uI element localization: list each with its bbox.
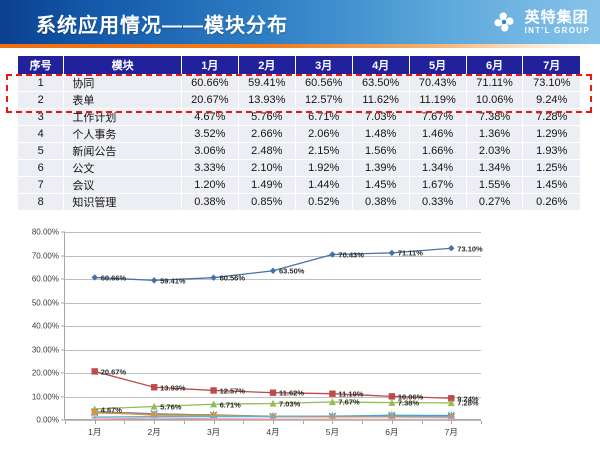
cell-month-value: 0.38% (352, 194, 409, 211)
cell-month-value: 1.67% (409, 177, 466, 194)
cell-month-value: 1.45% (352, 177, 409, 194)
table-row: 2表单20.67%13.93%12.57%11.62%11.19%10.06%9… (18, 92, 580, 109)
chart-x-minor-tick (303, 421, 304, 424)
cell-month-value: 7.28% (523, 109, 580, 126)
cell-month-value: 0.33% (409, 194, 466, 211)
table-column-header: 模块 (64, 56, 182, 75)
cell-month-value: 70.43% (409, 75, 466, 92)
table-head: 序号模块1月2月3月4月5月6月7月 (18, 56, 580, 75)
table-column-header: 7月 (523, 56, 580, 75)
chart-point-label: 59.41% (160, 276, 185, 285)
cell-month-value: 3.33% (181, 160, 238, 177)
module-distribution-table: 序号模块1月2月3月4月5月6月7月 1协同60.66%59.41%60.56%… (18, 56, 580, 211)
cell-module-name: 知识管理 (64, 194, 182, 211)
cell-month-value: 1.55% (466, 177, 523, 194)
cell-month-value: 11.62% (352, 92, 409, 109)
chart-y-tick-label: 70.00% (32, 251, 59, 260)
cell-month-value: 3.52% (181, 126, 238, 143)
chart-y-tick-label: 50.00% (32, 298, 59, 307)
chart-data-point (92, 274, 98, 280)
table-column-header: 2月 (238, 56, 295, 75)
table-column-header: 6月 (466, 56, 523, 75)
cell-module-name: 公文 (64, 160, 182, 177)
cell-index: 4 (18, 126, 64, 143)
cell-month-value: 1.34% (466, 160, 523, 177)
table-row: 4个人事务3.52%2.66%2.06%1.48%1.46%1.36%1.29% (18, 126, 580, 143)
cell-index: 3 (18, 109, 64, 126)
cell-month-value: 2.15% (295, 143, 352, 160)
chart-plot-area: 0.00%10.00%20.00%30.00%40.00%50.00%60.00… (64, 232, 480, 420)
cell-index: 6 (18, 160, 64, 177)
cell-index: 8 (18, 194, 64, 211)
cell-month-value: 1.39% (352, 160, 409, 177)
chart-y-tick-label: 80.00% (32, 228, 59, 237)
chart-data-point (210, 387, 216, 393)
cell-month-value: 0.27% (466, 194, 523, 211)
table-row: 3工作计划4.67%5.76%6.71%7.03%7.67%7.38%7.28% (18, 109, 580, 126)
chart-point-label: 60.66% (101, 273, 126, 282)
chart-y-tick-label: 40.00% (32, 322, 59, 331)
chart-y-tick-label: 0.00% (36, 416, 59, 425)
cell-index: 2 (18, 92, 64, 109)
cell-month-value: 1.20% (181, 177, 238, 194)
cell-month-value: 12.57% (295, 92, 352, 109)
chart-x-minor-tick (124, 421, 125, 424)
cell-month-value: 1.49% (238, 177, 295, 194)
cell-module-name: 表单 (64, 92, 182, 109)
cell-module-name: 会议 (64, 177, 182, 194)
cell-month-value: 0.38% (181, 194, 238, 211)
chart-x-tick-mark (392, 420, 393, 424)
slide-header: 系统应用情况——模块分布 英特集团 INT'L GROUP (0, 0, 600, 44)
chart-point-label: 7.67% (338, 398, 359, 407)
cell-month-value: 0.26% (523, 194, 580, 211)
chart-x-tick-mark (451, 420, 452, 424)
module-trend-chart: 0.00%10.00%20.00%30.00%40.00%50.00%60.00… (0, 220, 600, 453)
cell-month-value: 9.24% (523, 92, 580, 109)
logo-name-cn: 英特集团 (525, 10, 590, 25)
cell-month-value: 2.48% (238, 143, 295, 160)
cell-month-value: 2.06% (295, 126, 352, 143)
chart-x-tick-label: 2月 (148, 426, 161, 438)
module-distribution-table-wrap: 序号模块1月2月3月4月5月6月7月 1协同60.66%59.41%60.56%… (18, 56, 580, 211)
cell-month-value: 1.92% (295, 160, 352, 177)
cell-index: 1 (18, 75, 64, 92)
chart-point-label: 5.76% (160, 402, 181, 411)
chart-x-minor-tick (422, 421, 423, 424)
chart-point-label: 11.62% (279, 389, 304, 398)
cell-month-value: 7.03% (352, 109, 409, 126)
chart-y-tick-label: 10.00% (32, 392, 59, 401)
chart-point-label: 4.67% (101, 405, 122, 414)
table-header-row: 序号模块1月2月3月4月5月6月7月 (18, 56, 580, 75)
chart-data-point (448, 245, 454, 251)
cell-month-value: 3.06% (181, 143, 238, 160)
chart-point-label: 12.57% (220, 386, 245, 395)
chart-data-point (151, 384, 157, 390)
chart-x-minor-tick (362, 421, 363, 424)
page-title: 系统应用情况——模块分布 (36, 9, 288, 38)
chart-x-tick-label: 6月 (385, 426, 398, 438)
cell-month-value: 1.29% (523, 126, 580, 143)
cell-month-value: 0.85% (238, 194, 295, 211)
cell-month-value: 7.38% (466, 109, 523, 126)
cell-month-value: 6.71% (295, 109, 352, 126)
cell-month-value: 4.67% (181, 109, 238, 126)
chart-data-point (270, 389, 276, 395)
chart-x-tick-label: 3月 (207, 426, 220, 438)
table-column-header: 3月 (295, 56, 352, 75)
chart-x-tick-label: 7月 (445, 426, 458, 438)
cell-month-value: 59.41% (238, 75, 295, 92)
cell-month-value: 1.56% (352, 143, 409, 160)
chart-y-tick-label: 60.00% (32, 275, 59, 284)
table-column-header: 序号 (18, 56, 64, 75)
table-row: 1协同60.66%59.41%60.56%63.50%70.43%71.11%7… (18, 75, 580, 92)
cell-index: 7 (18, 177, 64, 194)
slide-canvas: 系统应用情况——模块分布 英特集团 INT'L GROUP 序号模块1月2月3月… (0, 0, 600, 453)
cell-month-value: 20.67% (181, 92, 238, 109)
chart-data-point (329, 391, 335, 397)
cell-month-value: 71.11% (466, 75, 523, 92)
table-body: 1协同60.66%59.41%60.56%63.50%70.43%71.11%7… (18, 75, 580, 211)
table-column-header: 5月 (409, 56, 466, 75)
cell-month-value: 1.44% (295, 177, 352, 194)
table-column-header: 4月 (352, 56, 409, 75)
chart-data-point (151, 277, 157, 283)
cell-month-value: 60.56% (295, 75, 352, 92)
chart-x-tick-mark (154, 420, 155, 424)
chart-point-label: 71.11% (398, 249, 423, 258)
chart-point-label: 63.50% (279, 267, 304, 276)
cell-month-value: 1.45% (523, 177, 580, 194)
table-row: 5新闻公告3.06%2.48%2.15%1.56%1.66%2.03%1.93% (18, 143, 580, 160)
cell-month-value: 63.50% (352, 75, 409, 92)
cell-month-value: 0.52% (295, 194, 352, 211)
cell-month-value: 1.93% (523, 143, 580, 160)
chart-data-point (92, 368, 98, 374)
chart-point-label: 13.93% (160, 383, 185, 392)
table-row: 7会议1.20%1.49%1.44%1.45%1.67%1.55%1.45% (18, 177, 580, 194)
cell-month-value: 73.10% (523, 75, 580, 92)
chart-point-label: 73.10% (457, 244, 482, 253)
cell-month-value: 1.25% (523, 160, 580, 177)
table-row: 6公文3.33%2.10%1.92%1.39%1.34%1.34%1.25% (18, 160, 580, 177)
company-logo: 英特集团 INT'L GROUP (489, 7, 590, 37)
cell-month-value: 2.03% (466, 143, 523, 160)
chart-x-tick-label: 1月 (88, 426, 101, 438)
cell-month-value: 1.66% (409, 143, 466, 160)
logo-text: 英特集团 INT'L GROUP (525, 10, 590, 35)
cell-month-value: 13.93% (238, 92, 295, 109)
chart-point-label: 7.03% (279, 399, 300, 408)
cell-month-value: 60.66% (181, 75, 238, 92)
chart-data-point (389, 393, 395, 399)
chart-point-label: 7.28% (457, 399, 478, 408)
pinwheel-logo-icon (489, 7, 519, 37)
chart-x-tick-mark (214, 420, 215, 424)
chart-x-tick-label: 5月 (326, 426, 339, 438)
cell-month-value: 1.48% (352, 126, 409, 143)
cell-month-value: 1.36% (466, 126, 523, 143)
chart-y-tick-label: 30.00% (32, 345, 59, 354)
cell-month-value: 5.76% (238, 109, 295, 126)
cell-month-value: 1.34% (409, 160, 466, 177)
chart-x-minor-tick (65, 421, 66, 424)
chart-data-point (270, 268, 276, 274)
chart-data-point (389, 250, 395, 256)
chart-point-label: 70.43% (338, 250, 363, 259)
chart-y-tick-label: 20.00% (32, 369, 59, 378)
chart-x-tick-mark (95, 420, 96, 424)
chart-point-label: 6.71% (220, 400, 241, 409)
table-row: 8知识管理0.38%0.85%0.52%0.38%0.33%0.27%0.26% (18, 194, 580, 211)
chart-x-tick-mark (273, 420, 274, 424)
cell-month-value: 1.46% (409, 126, 466, 143)
cell-index: 5 (18, 143, 64, 160)
chart-point-label: 60.56% (220, 274, 245, 283)
chart-data-point (210, 274, 216, 280)
header-accent-bar (0, 44, 600, 48)
cell-module-name: 协同 (64, 75, 182, 92)
chart-data-point (329, 251, 335, 257)
chart-point-label: 7.38% (398, 399, 419, 408)
cell-month-value: 11.19% (409, 92, 466, 109)
chart-x-minor-tick (243, 421, 244, 424)
chart-x-minor-tick (184, 421, 185, 424)
cell-module-name: 新闻公告 (64, 143, 182, 160)
chart-x-minor-tick (481, 421, 482, 424)
cell-month-value: 2.10% (238, 160, 295, 177)
logo-name-en: INT'L GROUP (525, 27, 590, 35)
cell-module-name: 工作计划 (64, 109, 182, 126)
chart-point-label: 20.67% (101, 367, 126, 376)
chart-x-tick-label: 4月 (266, 426, 279, 438)
cell-month-value: 7.67% (409, 109, 466, 126)
chart-x-tick-mark (332, 420, 333, 424)
cell-month-value: 10.06% (466, 92, 523, 109)
table-column-header: 1月 (181, 56, 238, 75)
cell-module-name: 个人事务 (64, 126, 182, 143)
cell-month-value: 2.66% (238, 126, 295, 143)
